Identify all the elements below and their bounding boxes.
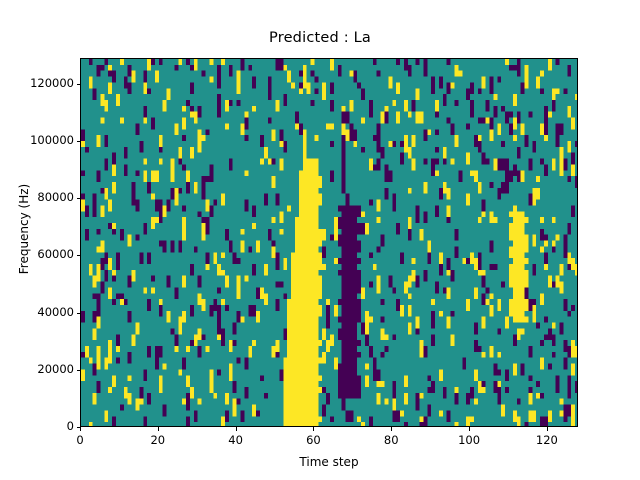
x-tick-mark [236, 427, 237, 431]
x-tick-label: 40 [228, 433, 243, 447]
heatmap-axes [80, 58, 578, 427]
y-tick-label: 120000 [30, 76, 74, 90]
x-tick-label: 100 [458, 433, 480, 447]
x-tick-mark [391, 427, 392, 431]
x-tick-mark [158, 427, 159, 431]
y-tick-label: 100000 [30, 133, 74, 147]
x-tick-mark [469, 427, 470, 431]
y-tick-label: 60000 [37, 247, 74, 261]
y-tick-label: 80000 [37, 190, 74, 204]
x-tick-mark [547, 427, 548, 431]
x-tick-mark [313, 427, 314, 431]
y-axis-label: Frequency (Hz) [17, 79, 31, 379]
matplotlib-figure: Predicted : La Frequency (Hz) Time step … [0, 0, 640, 480]
x-tick-label: 0 [76, 433, 83, 447]
x-tick-mark [80, 427, 81, 431]
x-axis-label: Time step [80, 455, 578, 469]
y-tick-label: 20000 [37, 362, 74, 376]
x-tick-label: 20 [150, 433, 165, 447]
x-tick-label: 80 [384, 433, 399, 447]
spectrogram-heatmap [81, 59, 578, 427]
x-tick-label: 60 [306, 433, 321, 447]
y-tick-label: 0 [67, 419, 74, 433]
x-tick-label: 120 [536, 433, 558, 447]
page-title: Predicted : La [0, 30, 640, 46]
y-tick-label: 40000 [37, 305, 74, 319]
